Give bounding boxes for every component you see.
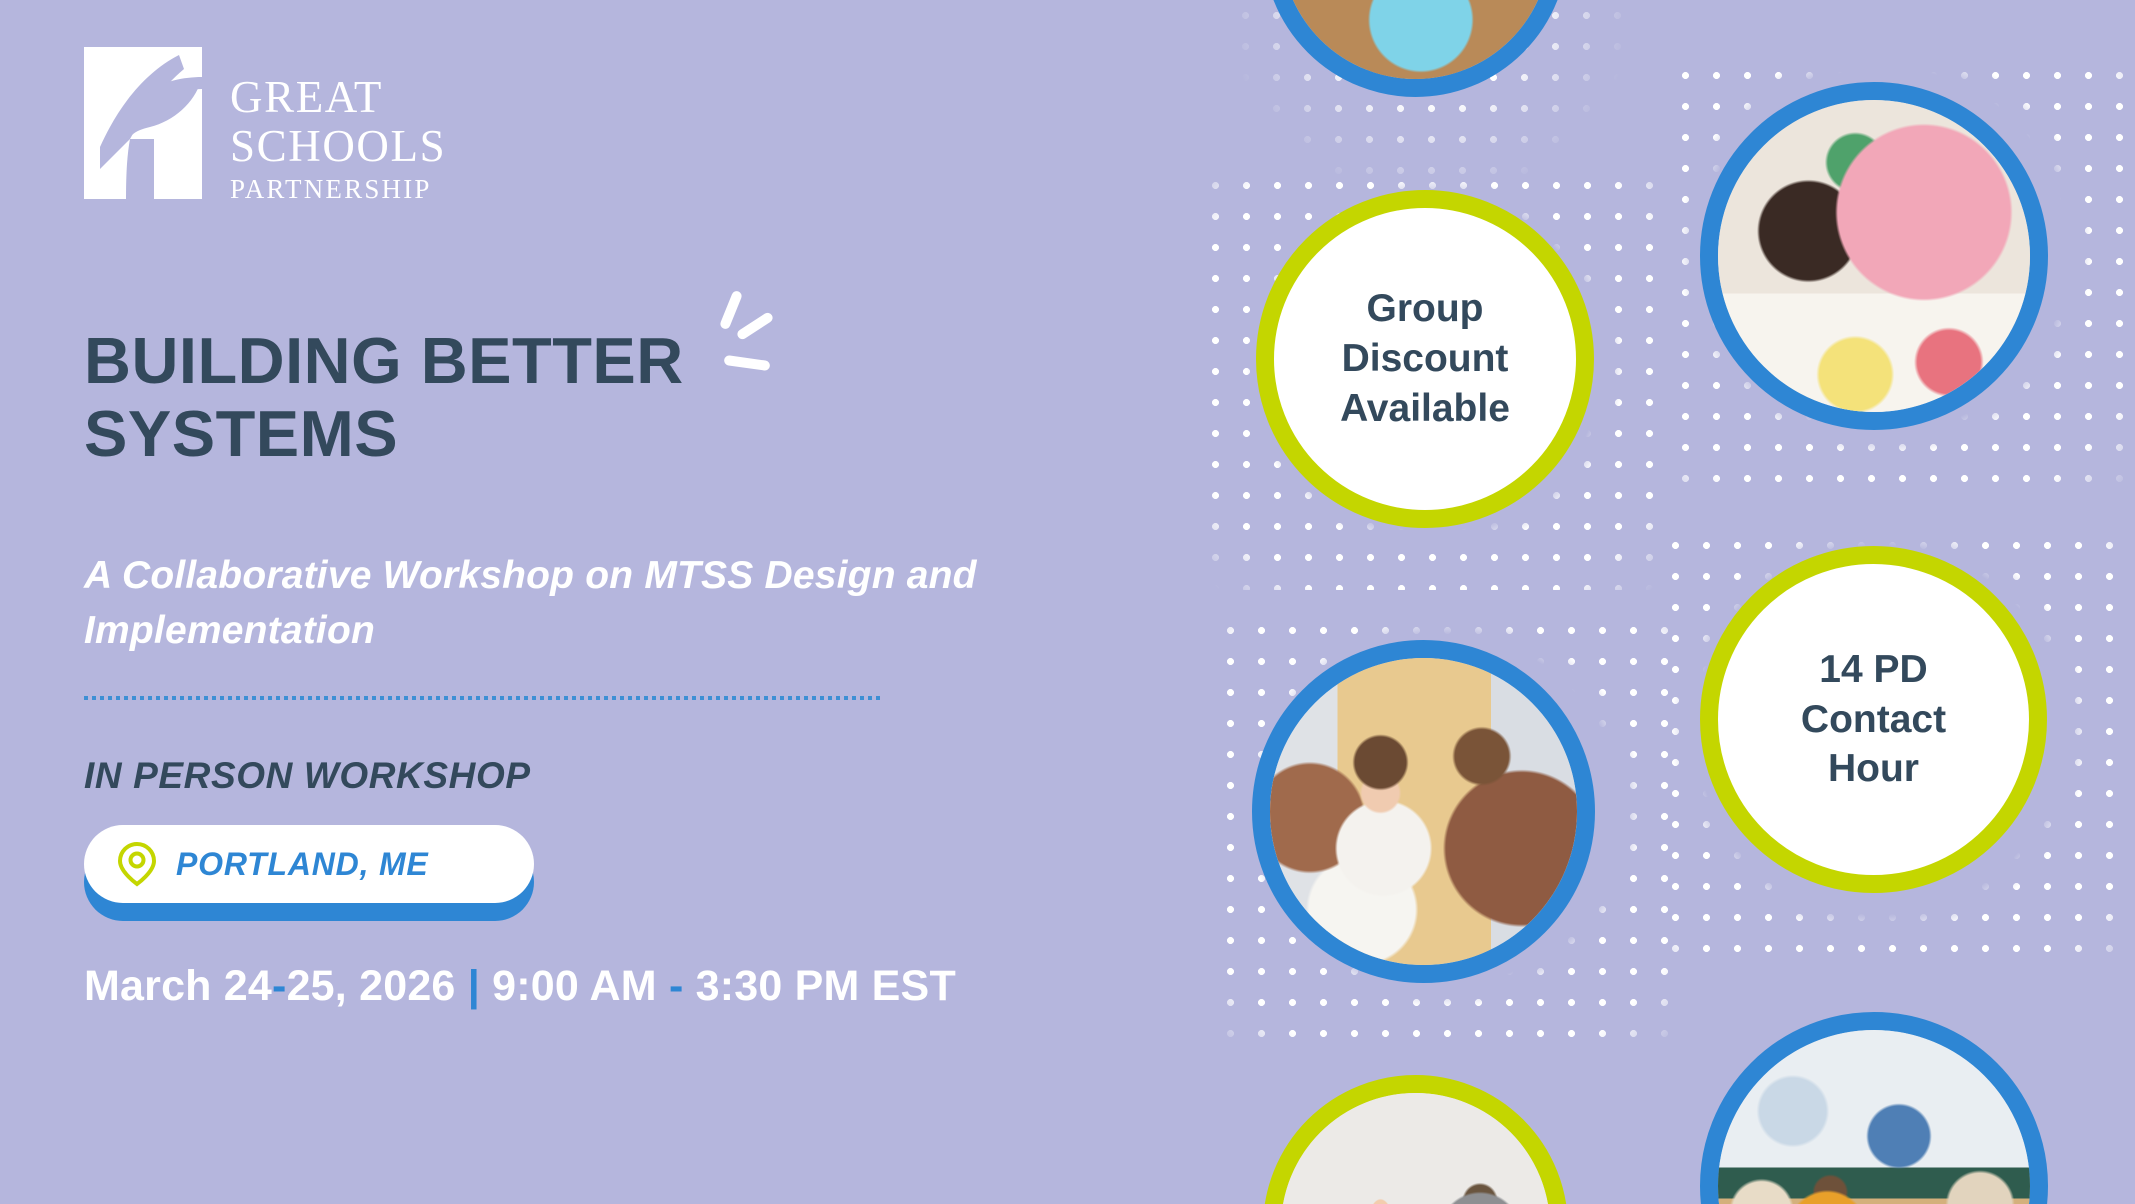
divider [84,696,881,700]
badge-line: Hour [1801,744,1946,794]
date-start: March 24 [84,962,272,1010]
location-pill-face[interactable]: PORTLAND, ME [84,825,534,903]
photo-art-room-children-image [1718,1030,2030,1204]
date-time-pipe: | [468,962,480,1010]
page-subtitle: A Collaborative Workshop on MTSS Design … [84,548,984,659]
page-title: BUILDING BETTER SYSTEMS [84,325,764,471]
photo-globe-classroom [1263,0,1568,97]
photo-educators-discussion [1252,640,1595,983]
photo-teacher-with-student [1700,82,2048,430]
badge-line: Discount [1340,334,1510,384]
map-pin-icon [114,841,160,887]
leaf-sprout-logo-mark [84,47,202,199]
brand-line-2: SCHOOLS [230,124,446,169]
date-end: 25, 2026 [287,962,456,1010]
badge-group-discount-text: Group Discount Available [1340,284,1510,434]
date-dash: - [272,962,287,1010]
brand-logo[interactable]: GREAT SCHOOLS PARTNERSHIP [84,47,446,203]
photo-raised-hands-classroom [1263,1075,1568,1204]
photo-educators-discussion-image [1270,658,1577,965]
time-end: 3:30 PM EST [696,962,956,1010]
brand-line-1: GREAT [230,75,446,120]
brand-line-3: PARTNERSHIP [230,176,446,203]
badge-line: 14 PD [1801,645,1946,695]
format-kicker: IN PERSON WORKSHOP [84,755,531,797]
badge-group-discount: Group Discount Available [1256,190,1594,528]
photo-teacher-with-student-image [1718,100,2030,412]
location-pill[interactable]: PORTLAND, ME [84,825,534,921]
badge-line: Contact [1801,695,1946,745]
photo-raised-hands-classroom-image [1281,1093,1550,1204]
location-label: PORTLAND, ME [176,846,429,883]
headline-block: BUILDING BETTER SYSTEMS [84,325,1084,471]
badge-pd-contact-hour-text: 14 PD Contact Hour [1801,645,1946,795]
time-dash: - [669,962,684,1010]
badge-line: Group [1340,284,1510,334]
time-start: 9:00 AM [492,962,657,1010]
photo-globe-classroom-image [1281,0,1550,79]
promo-banner: GREAT SCHOOLS PARTNERSHIP BUILDING BETTE… [0,0,2135,1204]
badge-line: Available [1340,384,1510,434]
brand-wordmark: GREAT SCHOOLS PARTNERSHIP [230,75,446,203]
event-datetime: March 24-25, 2026 | 9:00 AM - 3:30 PM ES… [84,962,956,1011]
photo-art-room-children [1700,1012,2048,1204]
badge-pd-contact-hour: 14 PD Contact Hour [1700,546,2047,893]
